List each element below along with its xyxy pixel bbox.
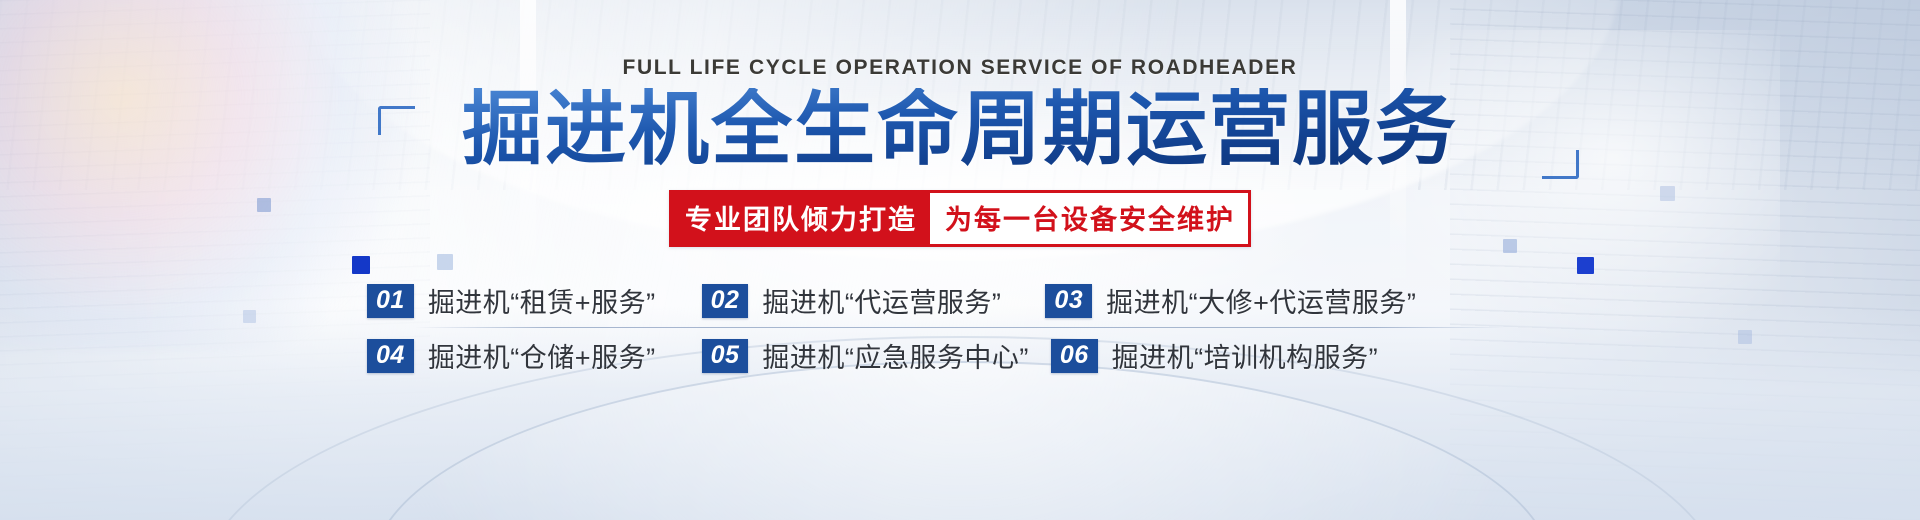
banner-content: FULL LIFE CYCLE OPERATION SERVICE OF ROA… (0, 0, 1920, 520)
service-number-06: 06 (1051, 339, 1098, 374)
service-number-01: 01 (367, 284, 414, 319)
banner-tagline-bar: 专业团队倾力打造 为每一台设备安全维护 (669, 190, 1251, 247)
banner-headline: 掘进机全生命周期运营服务 (462, 88, 1458, 174)
service-item-03[interactable]: 03 掘进机“大修+代运营服务” (1045, 281, 1416, 320)
service-row-two: 04 掘进机“仓储+服务” 05 掘进机“应急服务中心” 06 掘进机“培训机构… (365, 330, 1555, 382)
tagline-right-text: 为每一台设备安全维护 (930, 193, 1248, 244)
banner-eyebrow-english: FULL LIFE CYCLE OPERATION SERVICE OF ROA… (623, 56, 1298, 80)
service-list: 01 掘进机“租赁+服务” 02 掘进机“代运营服务” 03 掘进机“大修+代运… (365, 275, 1555, 382)
promo-banner: FULL LIFE CYCLE OPERATION SERVICE OF ROA… (0, 0, 1920, 520)
service-number-04: 04 (367, 339, 414, 374)
service-number-02: 02 (702, 284, 749, 319)
service-label-05: 掘进机“应急服务中心” (762, 336, 1028, 375)
service-label-04: 掘进机“仓储+服务” (428, 336, 656, 375)
service-item-04[interactable]: 04 掘进机“仓储+服务” (367, 336, 656, 375)
service-item-02[interactable]: 02 掘进机“代运营服务” (702, 281, 1002, 320)
service-label-01: 掘进机“租赁+服务” (428, 281, 656, 320)
service-label-02: 掘进机“代运营服务” (762, 281, 1001, 320)
service-row-one: 01 掘进机“租赁+服务” 02 掘进机“代运营服务” 03 掘进机“大修+代运… (365, 275, 1555, 327)
service-item-01[interactable]: 01 掘进机“租赁+服务” (367, 281, 656, 320)
service-number-03: 03 (1045, 284, 1092, 319)
service-item-05[interactable]: 05 掘进机“应急服务中心” (702, 336, 1029, 375)
service-label-03: 掘进机“大修+代运营服务” (1106, 281, 1416, 320)
service-label-06: 掘进机“培训机构服务” (1112, 336, 1378, 375)
service-number-05: 05 (702, 339, 749, 374)
service-item-06[interactable]: 06 掘进机“培训机构服务” (1051, 336, 1378, 375)
service-row-divider (415, 327, 1505, 328)
tagline-left-text: 专业团队倾力打造 (672, 193, 930, 244)
